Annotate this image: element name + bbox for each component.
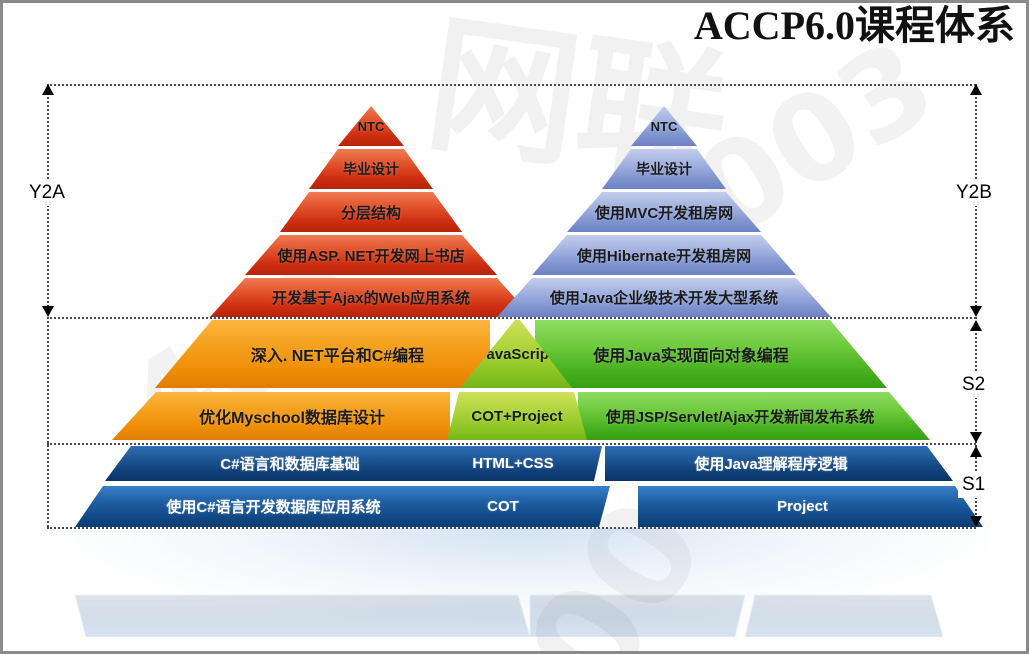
arrow-right-s1-bottom	[970, 516, 982, 527]
guide-line-top	[47, 84, 976, 86]
left-level-4-label: 使用ASP. NET开发网上书店	[277, 245, 464, 266]
label-s1: S1	[958, 472, 989, 498]
center-level-4[interactable]: COT	[396, 486, 610, 527]
right-level-5[interactable]: 使用Java企业级技术开发大型系统	[497, 278, 831, 317]
arrow-right-s2-bottom	[970, 432, 982, 443]
right-level-1-label: NTC	[651, 119, 678, 134]
left-level-6-label: 深入. NET平台和C#编程	[251, 342, 424, 366]
left-level-2[interactable]: 毕业设计	[309, 149, 433, 189]
frame-top-border	[0, 0, 1029, 3]
right-level-7[interactable]: 使用JSP/Servlet/Ajax开发新闻发布系统	[578, 392, 930, 440]
pyramid-reflection	[0, 527, 1029, 637]
right-level-2[interactable]: 毕业设计	[602, 149, 726, 189]
arrow-right-top	[970, 84, 982, 95]
left-level-5-label: 开发基于Ajax的Web应用系统	[272, 287, 470, 308]
guide-line-base	[47, 527, 976, 529]
diagram-canvas: 网联 400 003 4000 NTC 毕业设计 分层结构 使用ASP. NET…	[0, 0, 1029, 654]
arrow-left-y2a-bottom	[42, 306, 54, 317]
center-level-2-label: COT+Project	[471, 408, 562, 425]
right-level-4-label: 使用Hibernate开发租房网	[577, 245, 751, 266]
right-level-2-label: 毕业设计	[636, 159, 692, 179]
left-level-8-label: C#语言和数据库基础	[220, 453, 359, 474]
frame-left-border	[0, 0, 3, 654]
right-level-6-label: 使用Java实现面向对象编程	[593, 342, 789, 366]
left-level-8[interactable]: C#语言和数据库基础	[105, 446, 465, 481]
page-title: ACCP6.0课程体系	[694, 6, 1015, 46]
left-level-3[interactable]: 分层结构	[280, 192, 462, 232]
left-level-9-label: 使用C#语言开发数据库应用系统	[166, 496, 380, 517]
left-level-1[interactable]: NTC	[338, 106, 404, 146]
right-level-6[interactable]: 使用Java实现面向对象编程	[535, 320, 887, 388]
left-level-2-label: 毕业设计	[343, 159, 399, 179]
arrow-right-y2b-bottom	[970, 306, 982, 317]
center-level-3-label: HTML+CSS	[472, 455, 553, 472]
right-level-7-label: 使用JSP/Servlet/Ajax开发新闻发布系统	[606, 406, 874, 427]
arrow-right-s2-top	[970, 320, 982, 331]
center-level-2[interactable]: COT+Project	[447, 392, 587, 440]
right-level-3[interactable]: 使用MVC开发租房网	[567, 192, 761, 232]
left-level-7-label: 优化Myschool数据库设计	[199, 404, 385, 428]
right-level-8[interactable]: 使用Java理解程序逻辑	[605, 446, 953, 481]
arrow-right-s1-top	[970, 446, 982, 457]
label-y2b: Y2B	[952, 180, 996, 206]
left-level-3-label: 分层结构	[341, 202, 401, 223]
left-level-6[interactable]: 深入. NET平台和C#编程	[155, 320, 490, 388]
right-level-9[interactable]: Project	[638, 486, 983, 527]
right-level-3-label: 使用MVC开发租房网	[595, 202, 733, 223]
right-level-1[interactable]: NTC	[631, 106, 697, 146]
arrow-left-top	[42, 84, 54, 95]
left-level-7[interactable]: 优化Myschool数据库设计	[112, 392, 450, 440]
label-s2: S2	[958, 372, 989, 398]
right-level-5-label: 使用Java企业级技术开发大型系统	[550, 287, 778, 308]
guide-line-y2-s2	[47, 317, 976, 319]
right-level-8-label: 使用Java理解程序逻辑	[694, 453, 847, 474]
left-level-4[interactable]: 使用ASP. NET开发网上书店	[245, 235, 497, 275]
left-level-1-label: NTC	[358, 119, 385, 134]
label-y2a: Y2A	[25, 180, 69, 206]
center-level-3[interactable]: HTML+CSS	[424, 446, 602, 481]
guide-line-s2-s1	[47, 443, 976, 445]
center-level-4-label: COT	[487, 498, 519, 515]
left-level-5[interactable]: 开发基于Ajax的Web应用系统	[210, 278, 532, 317]
right-level-9-label: Project	[777, 498, 828, 515]
right-level-4[interactable]: 使用Hibernate开发租房网	[532, 235, 796, 275]
